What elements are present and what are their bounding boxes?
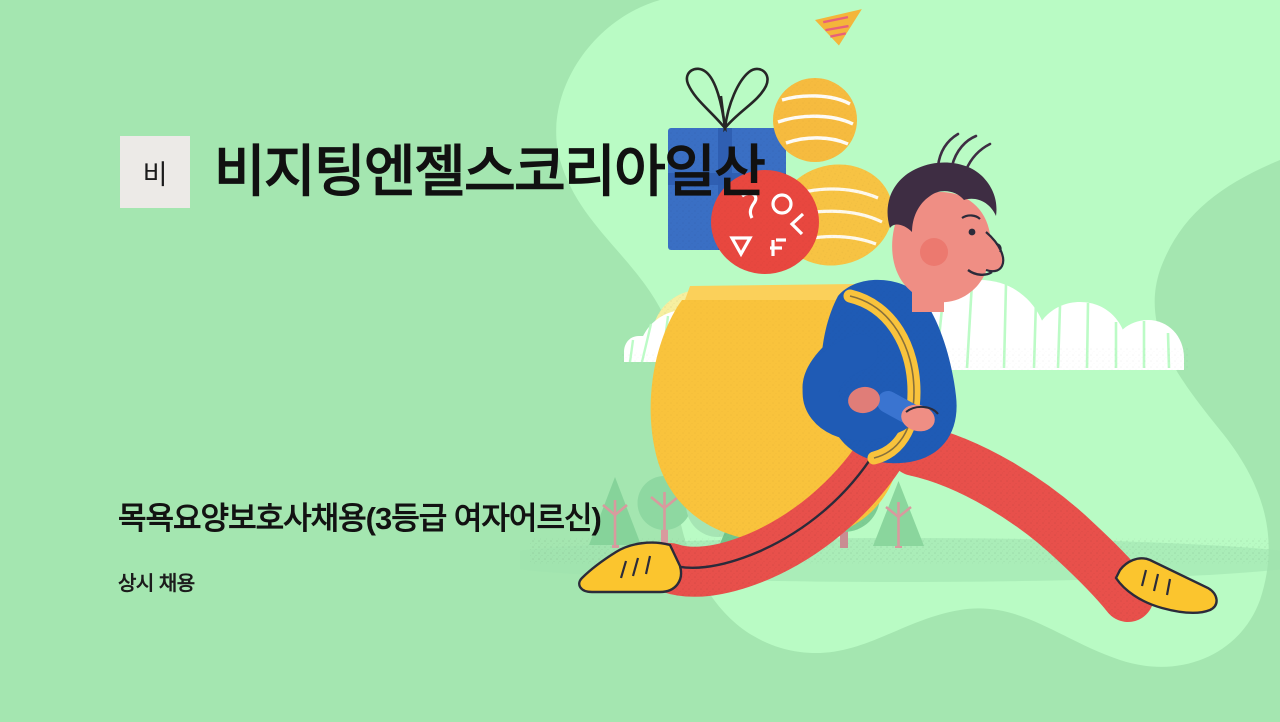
company-logo: 비 bbox=[120, 136, 190, 208]
company-name[interactable]: 비지팅엔젤스코리아일산 bbox=[214, 144, 764, 200]
company-header: 비 비지팅엔젤스코리아일산 bbox=[120, 133, 764, 211]
job-title[interactable]: 목욕요양보호사채용(3등급 여자어르신) bbox=[118, 500, 601, 537]
job-status-badge: 상시 채용 bbox=[118, 572, 195, 596]
text-layer: 비 비지팅엔젤스코리아일산 목욕요양보호사채용(3등급 여자어르신) 상시 채용 bbox=[0, 0, 1280, 722]
job-posting-card: 비 비지팅엔젤스코리아일산 목욕요양보호사채용(3등급 여자어르신) 상시 채용 bbox=[0, 0, 1280, 722]
